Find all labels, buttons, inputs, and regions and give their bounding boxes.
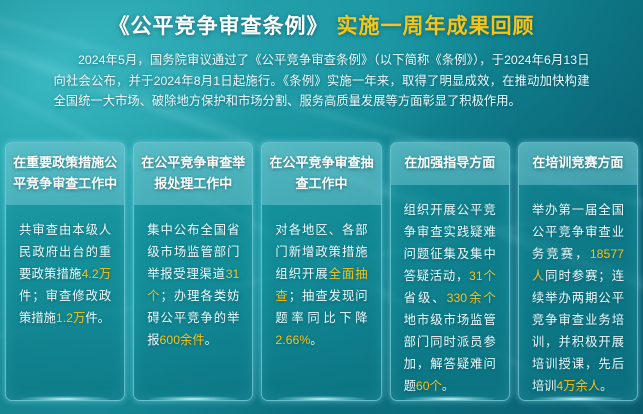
page-header: 《公平竞争审查条例》实施一周年成果回顾 2024年5月，国务院审议通过了《公平竞… xyxy=(0,0,643,112)
achievement-card-row: 在重要政策措施公平竞争审查工作中共审查由本级人民政府出台的重要政策措施4.2万件… xyxy=(5,142,638,401)
achievement-card: 在加强指导方面组织开展公平竞争审查实践疑难问题征集及集中答疑活动，31个省级、3… xyxy=(390,142,510,401)
page-title-regulation-name: 《公平竞争审查条例》 xyxy=(109,14,329,38)
achievement-card: 在公平竞争审查举报处理工作中集中公布全国省级市场监管部门举报受理渠道31个；办理… xyxy=(133,142,253,401)
achievement-card-header: 在加强指导方面 xyxy=(391,143,509,185)
highlighted-figure: 4万余人 xyxy=(556,379,600,393)
body-text-segment: ；抽查发现问题率同比下降 xyxy=(275,289,367,325)
body-text-segment: 同时参赛；连续举办两期公平竞争审查业务培训，并积极开展培训授课，先后培训 xyxy=(532,269,624,393)
body-text-segment: 。 xyxy=(310,333,322,347)
body-text-segment: 件。 xyxy=(85,311,110,325)
achievement-card-body: 对各地区、各部门新增政策措施组织开展全面抽查；抽查发现问题率同比下降2.66%。 xyxy=(262,205,380,400)
achievement-card-header: 在公平竞争审查抽查工作中 xyxy=(262,143,380,205)
achievement-card: 在公平竞争审查抽查工作中对各地区、各部门新增政策措施组织开展全面抽查；抽查发现问… xyxy=(261,142,381,401)
body-text-segment: 省级、 xyxy=(404,291,447,305)
achievement-card-header: 在公平竞争审查举报处理工作中 xyxy=(134,143,252,205)
achievement-card-header: 在培训竞赛方面 xyxy=(519,143,637,185)
body-text-segment: 。 xyxy=(205,333,217,347)
highlighted-figure: 2.66% xyxy=(275,333,310,347)
achievement-card-body: 组织开展公平竞争审查实践疑难问题征集及集中答疑活动，31个省级、330余个地市级… xyxy=(391,185,509,402)
body-text-segment: 。 xyxy=(600,379,612,393)
body-text-segment: 。 xyxy=(442,379,454,393)
highlighted-figure: 1.2万 xyxy=(56,311,85,325)
highlighted-figure: 4.2万 xyxy=(82,267,112,281)
achievement-card-body: 共审查由本级人民政府出台的重要政策措施4.2万件；审查修改政策措施1.2万件。 xyxy=(6,205,124,400)
highlighted-figure: 600余件 xyxy=(160,333,205,347)
intro-paragraph: 2024年5月，国务院审议通过了《公平竞争审查条例》（以下简称《条例》），于20… xyxy=(54,50,590,112)
achievement-card-body: 集中公布全国省级市场监管部门举报受理渠道31个；办理各类妨碍公平竞争的举报600… xyxy=(134,205,252,400)
achievement-card: 在重要政策措施公平竞争审查工作中共审查由本级人民政府出台的重要政策措施4.2万件… xyxy=(5,142,125,401)
achievement-card: 在培训竞赛方面举办第一届全国公平竞争审查业务竞赛，18577人同时参赛；连续举办… xyxy=(518,142,638,401)
achievement-card-body: 举办第一届全国公平竞争审查业务竞赛，18577人同时参赛；连续举办两期公平竞争审… xyxy=(519,185,637,402)
page-title: 《公平竞争审查条例》实施一周年成果回顾 xyxy=(0,11,643,41)
highlighted-figure: 31个 xyxy=(469,269,496,283)
highlighted-figure: 60个 xyxy=(416,379,442,393)
highlighted-figure: 330余个 xyxy=(447,291,496,305)
page-title-subject: 实施一周年成果回顾 xyxy=(337,14,535,38)
achievement-card-header: 在重要政策措施公平竞争审查工作中 xyxy=(6,143,124,205)
